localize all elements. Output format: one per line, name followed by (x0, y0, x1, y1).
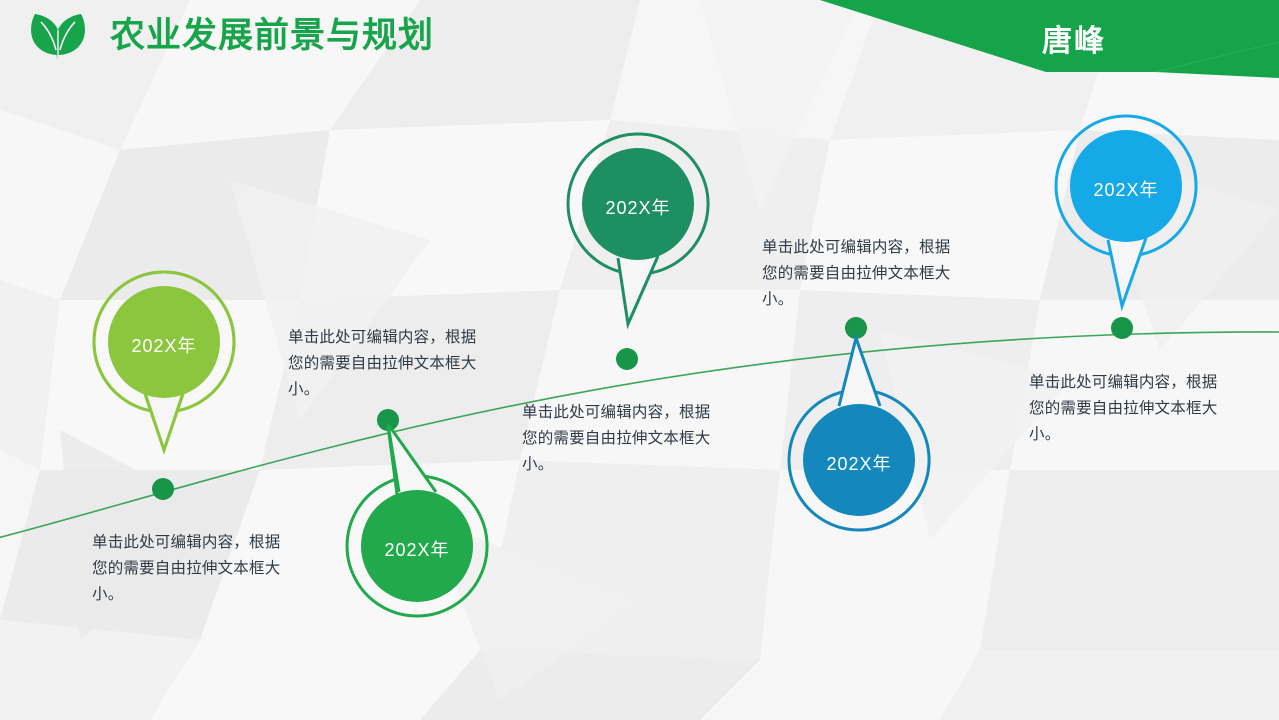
timeline-marker-4[interactable]: 202X年 (783, 344, 935, 536)
timeline-description-1: 单击此处可编辑内容，根据您的需要自由拉伸文本框大小。 (92, 530, 292, 608)
timeline-marker-2[interactable]: 202X年 (341, 430, 493, 622)
timeline-description-4: 单击此处可编辑内容，根据您的需要自由拉伸文本框大小。 (762, 235, 962, 313)
timeline-marker-3[interactable]: 202X年 (562, 128, 714, 328)
timeline-node-dot (1111, 317, 1133, 339)
timeline-node-dot (152, 478, 174, 500)
timeline-description-5: 单击此处可编辑内容，根据您的需要自由拉伸文本框大小。 (1029, 370, 1229, 448)
timeline-marker-5[interactable]: 202X年 (1050, 110, 1202, 310)
timeline-description-3: 单击此处可编辑内容，根据您的需要自由拉伸文本框大小。 (522, 400, 722, 478)
timeline-description-2: 单击此处可编辑内容，根据您的需要自由拉伸文本框大小。 (288, 325, 488, 403)
slide-canvas: 农业发展前景与规划 唐峰 202X年 单击此处可编辑内容，根据您的需要自由拉伸文… (0, 0, 1279, 720)
timeline-node-dot (616, 348, 638, 370)
timeline-marker-1[interactable]: 202X年 (88, 266, 240, 456)
